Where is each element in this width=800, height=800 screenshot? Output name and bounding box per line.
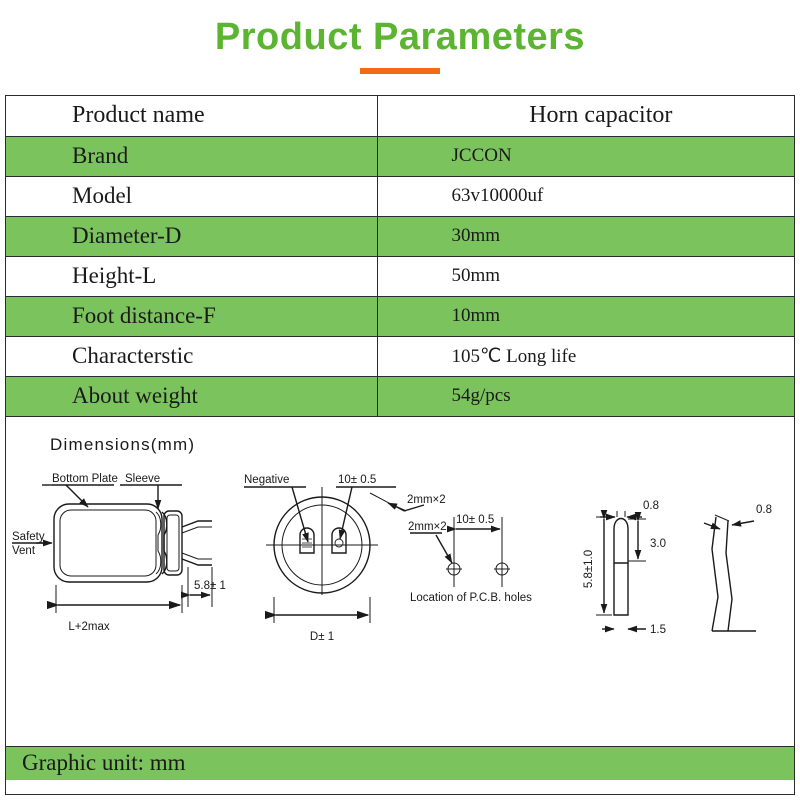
param-key-characteristic: Characterstic bbox=[6, 336, 377, 376]
dim-lead-diameter: 2mm×2 bbox=[407, 494, 446, 506]
dim-lead-tip: 3.0 bbox=[650, 538, 666, 550]
label-safety-vent-2: Vent bbox=[12, 545, 36, 557]
dim-diameter-bottom: D± 1 bbox=[310, 631, 334, 643]
param-value-height: 50mm bbox=[377, 256, 794, 296]
table-row: About weight 54g/pcs bbox=[6, 376, 794, 416]
param-key-brand: Brand bbox=[6, 136, 377, 176]
dim-pitch-bottom: 10± 0.5 bbox=[338, 474, 376, 486]
param-key-model: Model bbox=[6, 176, 377, 216]
graphic-unit-footer: Graphic unit: mm bbox=[6, 747, 794, 780]
dimensions-drawing: Bottom Plate Sleeve Safety Vent L+2max 5… bbox=[6, 417, 794, 745]
table-row: Foot distance-F 10mm bbox=[6, 296, 794, 336]
product-parameters-table: Product name Horn capacitor Brand JCCON … bbox=[6, 96, 794, 417]
table-row: Brand JCCON bbox=[6, 136, 794, 176]
param-value-foot-distance: 10mm bbox=[377, 296, 794, 336]
caption-pcb-holes: Location of P.C.B. holes bbox=[410, 592, 532, 604]
param-value-weight: 54g/pcs bbox=[377, 376, 794, 416]
label-sleeve: Sleeve bbox=[125, 473, 160, 485]
param-value-brand: JCCON bbox=[377, 136, 794, 176]
param-value-characteristic: 105℃ Long life bbox=[377, 336, 794, 376]
table-row: Product name Horn capacitor bbox=[6, 96, 794, 136]
dim-lead-base: 1.5 bbox=[650, 624, 666, 636]
table-row: Characterstic 105℃ Long life bbox=[6, 336, 794, 376]
table-row: Model 63v10000uf bbox=[6, 176, 794, 216]
param-key-diameter: Diameter-D bbox=[6, 216, 377, 256]
product-parameters-panel: Product name Horn capacitor Brand JCCON … bbox=[5, 95, 795, 795]
label-bottom-plate: Bottom Plate bbox=[52, 473, 118, 485]
dim-pitch-pcb: 10± 0.5 bbox=[456, 514, 494, 526]
param-key-height: Height-L bbox=[6, 256, 377, 296]
dim-lead-side: 5.8± 1 bbox=[194, 580, 226, 592]
title-underline-accent bbox=[360, 68, 440, 74]
param-key-product-name: Product name bbox=[6, 96, 377, 136]
dim-hole-pcb: 2mm×2 bbox=[408, 521, 447, 533]
dim-lead-total-length: 5.8±1.0 bbox=[583, 549, 595, 587]
dim-lead-width: 0.8 bbox=[643, 500, 659, 512]
title-block: Product Parameters bbox=[0, 14, 800, 74]
param-key-weight: About weight bbox=[6, 376, 377, 416]
param-value-diameter: 30mm bbox=[377, 216, 794, 256]
dim-length-side: L+2max bbox=[68, 621, 109, 633]
table-row: Diameter-D 30mm bbox=[6, 216, 794, 256]
dimensions-drawing-panel: Dimensions(mm) bbox=[6, 417, 794, 747]
table-row: Height-L 50mm bbox=[6, 256, 794, 296]
param-value-product-name: Horn capacitor bbox=[377, 96, 794, 136]
page-title: Product Parameters bbox=[0, 14, 800, 60]
param-value-model: 63v10000uf bbox=[377, 176, 794, 216]
label-safety-vent-1: Safety bbox=[12, 531, 45, 543]
dim-bent-lead-width: 0.8 bbox=[756, 504, 772, 516]
graphic-unit-label: Graphic unit: mm bbox=[6, 750, 186, 776]
param-key-foot-distance: Foot distance-F bbox=[6, 296, 377, 336]
label-negative: Negative bbox=[244, 474, 289, 486]
